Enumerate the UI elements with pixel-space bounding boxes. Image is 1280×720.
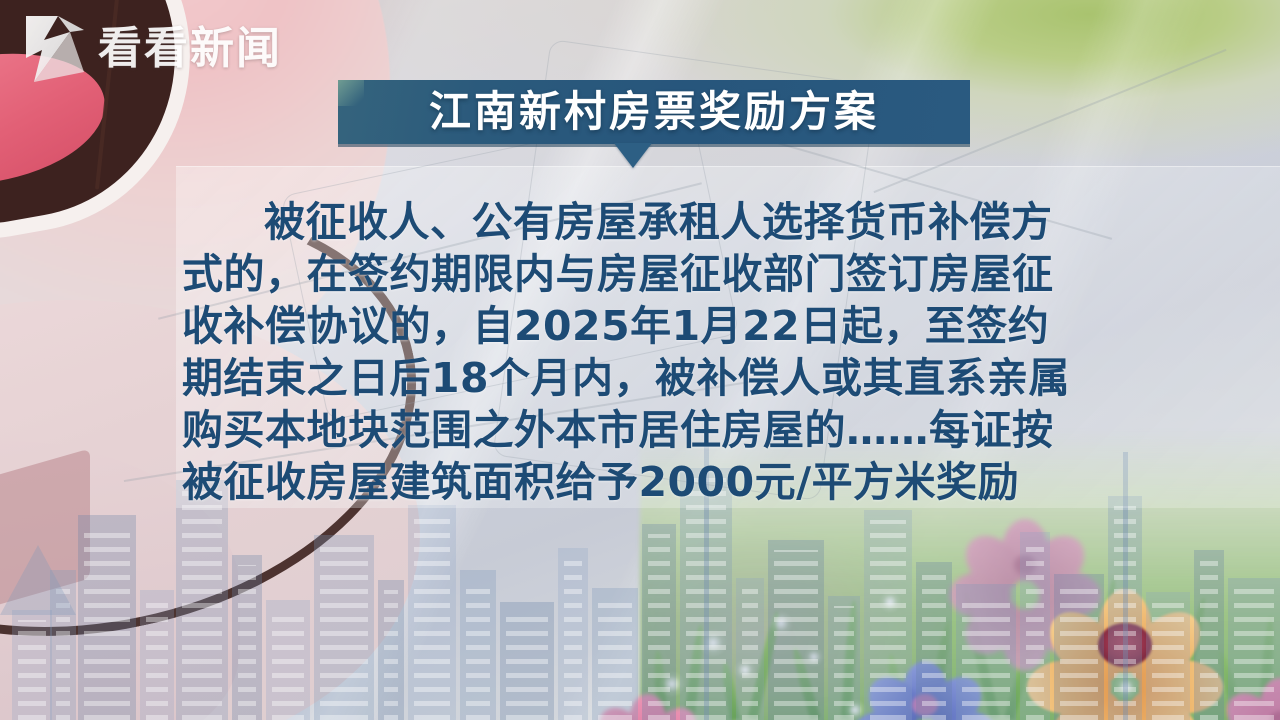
building-windows bbox=[320, 545, 368, 720]
skyline-building bbox=[558, 548, 588, 720]
building-windows bbox=[870, 520, 906, 720]
skyline-building bbox=[1054, 574, 1104, 720]
skyline-building bbox=[916, 562, 952, 720]
building-windows bbox=[922, 572, 946, 720]
building-windows bbox=[598, 598, 632, 720]
building-windows bbox=[84, 525, 130, 720]
building-windows bbox=[742, 588, 758, 720]
skyline-building bbox=[140, 590, 174, 720]
building-windows bbox=[238, 565, 256, 720]
building-windows bbox=[1234, 588, 1274, 720]
skyline-building bbox=[736, 578, 764, 720]
title-banner: 江南新村房票奖励方案 bbox=[338, 80, 970, 144]
skyline-building bbox=[1228, 578, 1280, 720]
kankan-arrow-logo-icon bbox=[22, 14, 88, 84]
building-windows bbox=[466, 580, 490, 720]
skyline-building bbox=[460, 570, 496, 720]
skyline-building bbox=[592, 588, 638, 720]
channel-logo-text: 看看新闻 bbox=[98, 27, 282, 71]
policy-body-paragraph: 被征收人、公有房屋承租人选择货币补偿方式的，在签约期限内与房屋征收部门签订房屋征… bbox=[182, 196, 1082, 508]
skyline-building bbox=[176, 480, 228, 720]
banner-title-text: 江南新村房票奖励方案 bbox=[429, 91, 879, 133]
policy-body-text: 被征收人、公有房屋承租人选择货币补偿方式的，在签约期限内与房屋征收部门签订房屋征… bbox=[182, 196, 1082, 508]
skyline-building bbox=[500, 602, 554, 720]
skyline-building bbox=[378, 580, 404, 720]
skyline-building bbox=[828, 596, 860, 720]
building-windows bbox=[962, 594, 1010, 720]
skyline-pointed-roof bbox=[0, 545, 76, 615]
building-windows bbox=[182, 490, 222, 720]
skyline-building bbox=[1194, 550, 1224, 720]
skyline-building bbox=[408, 505, 456, 720]
skyline-building bbox=[864, 510, 912, 720]
skyline-building bbox=[768, 540, 824, 720]
skyline-building bbox=[642, 524, 676, 720]
building-windows bbox=[272, 610, 304, 720]
building-windows bbox=[384, 590, 398, 720]
building-windows bbox=[1026, 542, 1044, 720]
broadcast-graphic-stage: 看看新闻 江南新村房票奖励方案 被征收人、公有房屋承租人选择货币补偿方式的，在签… bbox=[0, 0, 1280, 720]
skyline-building bbox=[314, 535, 374, 720]
channel-logo: 看看新闻 bbox=[22, 16, 282, 82]
skyline-building bbox=[12, 610, 52, 720]
skyline-building bbox=[266, 600, 310, 720]
building-windows bbox=[414, 515, 450, 720]
skyline-building bbox=[956, 584, 1016, 720]
skyline-building bbox=[232, 555, 262, 720]
building-windows bbox=[506, 612, 548, 720]
building-windows bbox=[146, 600, 168, 720]
banner-notch-triangle-icon bbox=[614, 143, 652, 168]
skyline-building bbox=[1020, 532, 1050, 720]
building-windows bbox=[774, 550, 818, 720]
building-windows bbox=[648, 534, 670, 720]
skyline-building bbox=[1146, 592, 1190, 720]
building-windows bbox=[1060, 584, 1098, 720]
skyline-building bbox=[78, 515, 136, 720]
building-windows bbox=[834, 606, 854, 720]
building-windows bbox=[18, 620, 46, 720]
building-windows bbox=[1200, 560, 1218, 720]
building-windows bbox=[564, 558, 582, 720]
building-windows bbox=[1152, 602, 1184, 720]
banner-corner-highlight bbox=[338, 80, 364, 106]
